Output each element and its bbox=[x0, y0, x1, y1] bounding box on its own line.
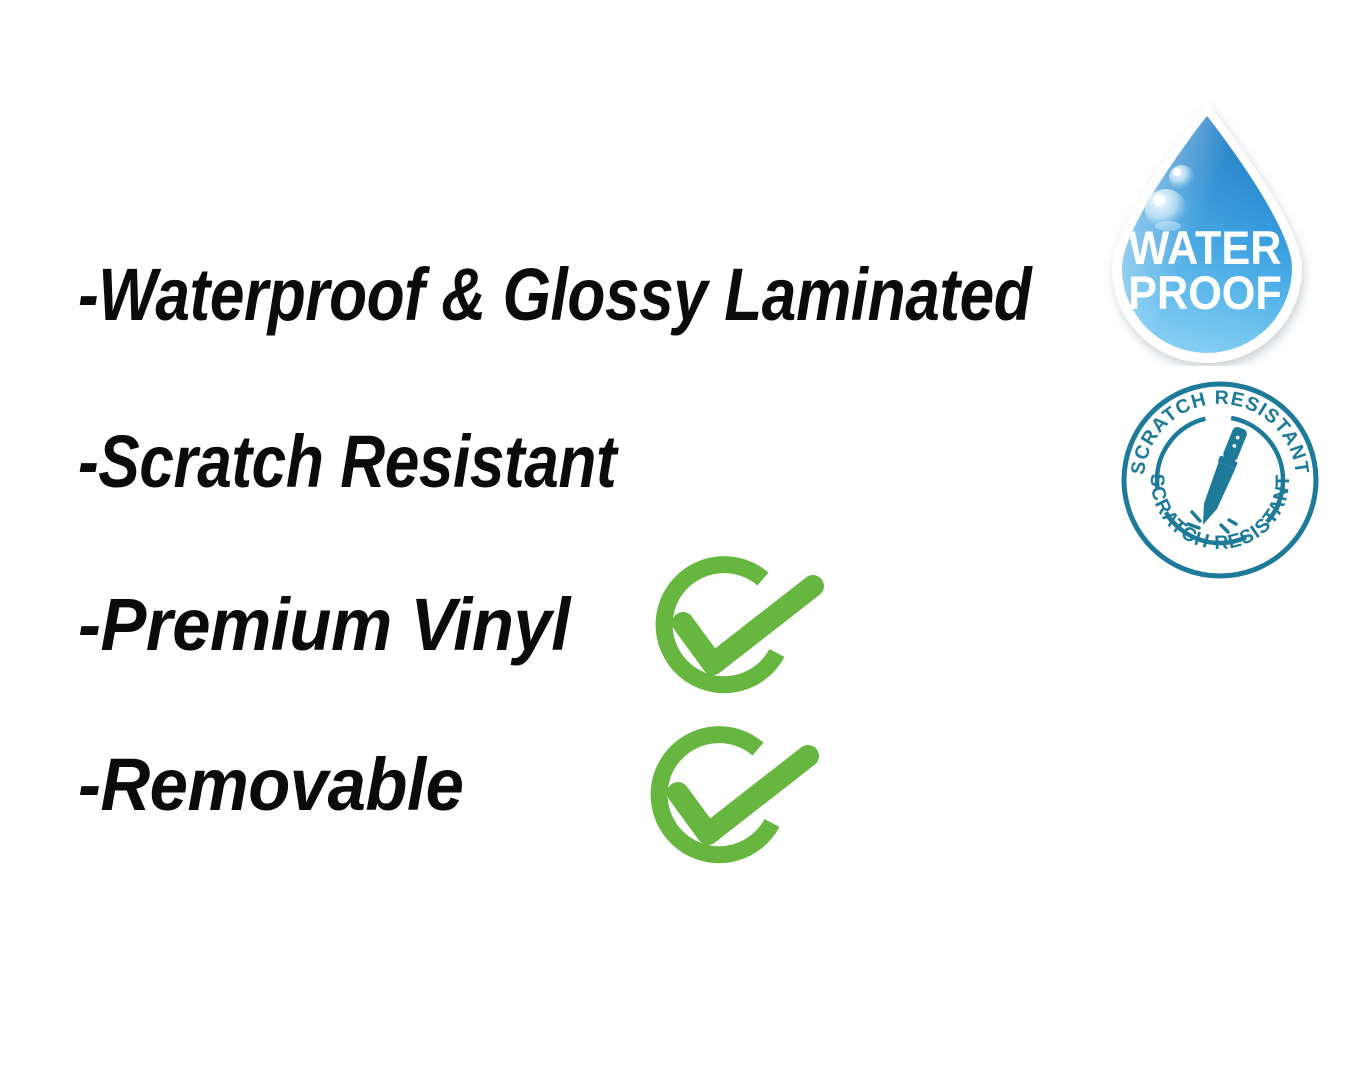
waterproof-line2: PROOF bbox=[1128, 266, 1282, 319]
check-circle-icon bbox=[630, 726, 830, 881]
check-circle-icon bbox=[635, 556, 835, 711]
check-circle-badge-1 bbox=[635, 556, 835, 711]
water-drop-icon: WATER PROOF bbox=[1104, 100, 1310, 366]
knife-handle bbox=[1222, 425, 1249, 462]
knife-icon bbox=[1194, 425, 1251, 529]
feature-item-waterproof-glossy-laminated: -Waterproof & Glossy Laminated bbox=[78, 258, 1031, 332]
bubble-small-icon bbox=[1169, 165, 1195, 191]
infographic-canvas: -Waterproof & Glossy Laminated -Scratch … bbox=[0, 0, 1359, 1080]
waterproof-badge: WATER PROOF bbox=[1104, 100, 1310, 366]
feature-item-premium-vinyl: -Premium Vinyl bbox=[78, 588, 570, 662]
check-circle-badge-2 bbox=[630, 726, 830, 881]
feature-item-scratch-resistant: -Scratch Resistant bbox=[78, 425, 616, 499]
bubble-large-highlight bbox=[1153, 194, 1165, 206]
knife-stamp-icon: SCRATCH RESISTANT SCRATCH RESISTANT bbox=[1120, 380, 1320, 580]
check-mark bbox=[683, 586, 813, 664]
feature-item-removable: -Removable bbox=[78, 748, 463, 822]
check-mark bbox=[678, 756, 808, 834]
scratch-resistant-badge: SCRATCH RESISTANT SCRATCH RESISTANT bbox=[1120, 380, 1320, 580]
bubble-small-highlight bbox=[1173, 168, 1181, 176]
